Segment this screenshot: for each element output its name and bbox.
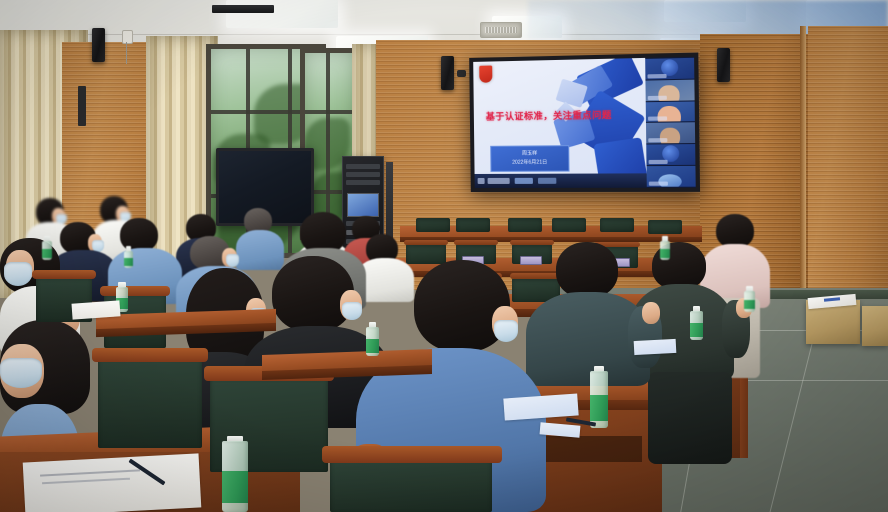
video-tile-participant-1[interactable] [645, 58, 694, 80]
air-conditioning-vent [480, 22, 522, 38]
slide-presenter-box: 周玉祥 2022年6月21日 [490, 145, 569, 172]
windows-taskbar[interactable] [475, 173, 647, 188]
seat-frame [510, 273, 562, 279]
wall-speaker [92, 28, 105, 62]
water-bottle [690, 306, 703, 340]
video-participant-strip[interactable] [645, 57, 696, 188]
water-bottle [366, 322, 379, 356]
auditorium-seat[interactable] [648, 220, 682, 234]
seat-rail [32, 270, 96, 279]
seat-frame [454, 240, 498, 245]
wood-slat-wall [808, 26, 888, 326]
video-tile-participant-5[interactable] [646, 144, 695, 165]
desk-nameplate [520, 256, 542, 265]
water-bottle [660, 236, 670, 260]
slide-title: 基于认证标准，关注重点问题 [486, 108, 612, 123]
water-bottle [222, 436, 248, 512]
projection-screen[interactable]: 基于认证标准，关注重点问题 周玉祥 2022年6月21日 [469, 53, 700, 193]
presenter-name: 周玉祥 [491, 146, 568, 159]
wall-cable [126, 42, 127, 64]
seat-frame [510, 240, 554, 245]
wall-speaker [717, 48, 730, 82]
presentation-slide: 基于认证标准，关注重点问题 周玉祥 2022年6月21日 [473, 58, 646, 174]
auditorium-seat[interactable] [406, 244, 446, 264]
auditorium-seat[interactable] [508, 218, 542, 232]
attendee-lower-body [648, 372, 732, 464]
auditorium-seat[interactable] [98, 356, 202, 448]
document-paper [634, 339, 677, 355]
water-bottle [124, 246, 133, 268]
water-bottle [42, 236, 52, 260]
water-bottle [744, 286, 755, 312]
wall-switch-box [122, 30, 133, 44]
seat-rail [100, 286, 170, 296]
seat-rail [92, 348, 208, 362]
seat-frame [404, 240, 448, 245]
auditorium-seat[interactable] [330, 456, 492, 512]
video-tile-participant-3[interactable] [646, 101, 695, 122]
projector-mount [212, 5, 274, 13]
video-tile-participant-2[interactable] [645, 79, 694, 100]
wall-speaker [78, 86, 86, 126]
wall-pilaster [800, 26, 806, 326]
presenter-date: 2022年6月21日 [491, 158, 568, 168]
org-emblem-icon [479, 65, 492, 82]
wall-speaker [441, 56, 454, 90]
auditorium-seat[interactable] [416, 218, 450, 232]
auditorium-seat[interactable] [456, 218, 490, 232]
seat-rail [322, 446, 502, 463]
document-paper [72, 300, 121, 319]
security-camera-icon [457, 70, 466, 77]
auditorium-seat[interactable] [552, 218, 586, 232]
video-tile-participant-6[interactable] [647, 166, 696, 187]
auditorium-seat[interactable] [600, 218, 634, 232]
video-tile-participant-4[interactable] [646, 123, 695, 144]
cardboard-box [862, 306, 888, 346]
conference-room-photo: 基于认证标准，关注重点问题 周玉祥 2022年6月21日 [0, 0, 888, 512]
water-bottle [590, 366, 608, 428]
